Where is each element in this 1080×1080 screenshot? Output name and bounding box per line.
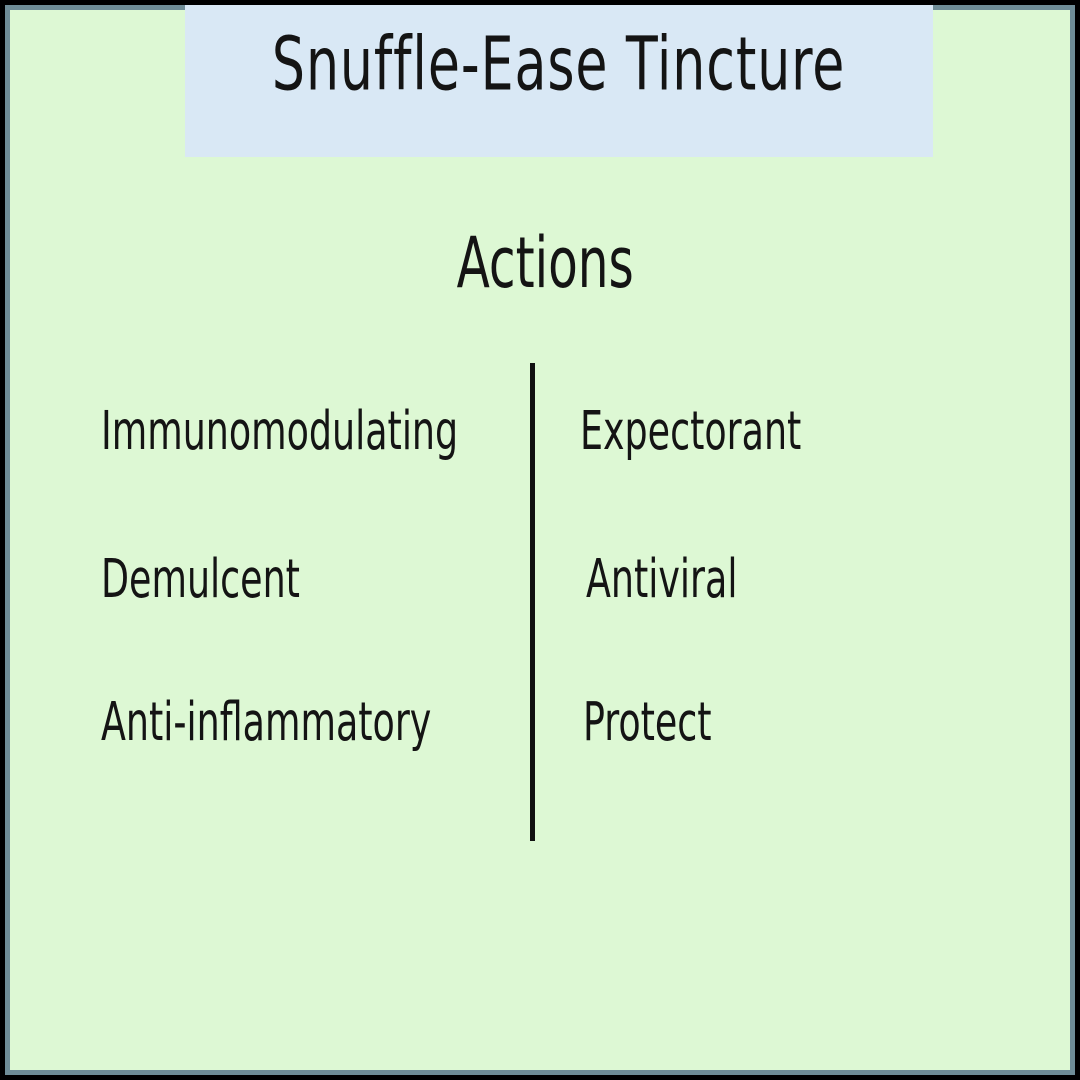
page-title: Snuffle-Ease Tincture — [272, 27, 845, 101]
actions-column-right: Expectorant Antiviral Protect — [580, 357, 940, 857]
list-item: Demulcent — [101, 553, 300, 607]
section-heading-label: Actions — [456, 227, 633, 298]
actions-column-left: Immunomodulating Demulcent Anti-inflamma… — [101, 357, 521, 857]
list-item: Antiviral — [586, 553, 737, 607]
actions-list: Immunomodulating Demulcent Anti-inflamma… — [5, 357, 1080, 857]
list-item: Immunomodulating — [101, 405, 458, 459]
column-divider — [530, 363, 535, 841]
section-heading: Actions — [5, 227, 1080, 285]
list-item: Anti-inflammatory — [101, 696, 431, 750]
list-item: Expectorant — [580, 405, 801, 459]
list-item: Protect — [583, 696, 712, 750]
tincture-info-card: Snuffle-Ease Tincture Actions Immunomodu… — [0, 0, 1080, 1080]
title-banner: Snuffle-Ease Tincture — [185, 5, 933, 157]
